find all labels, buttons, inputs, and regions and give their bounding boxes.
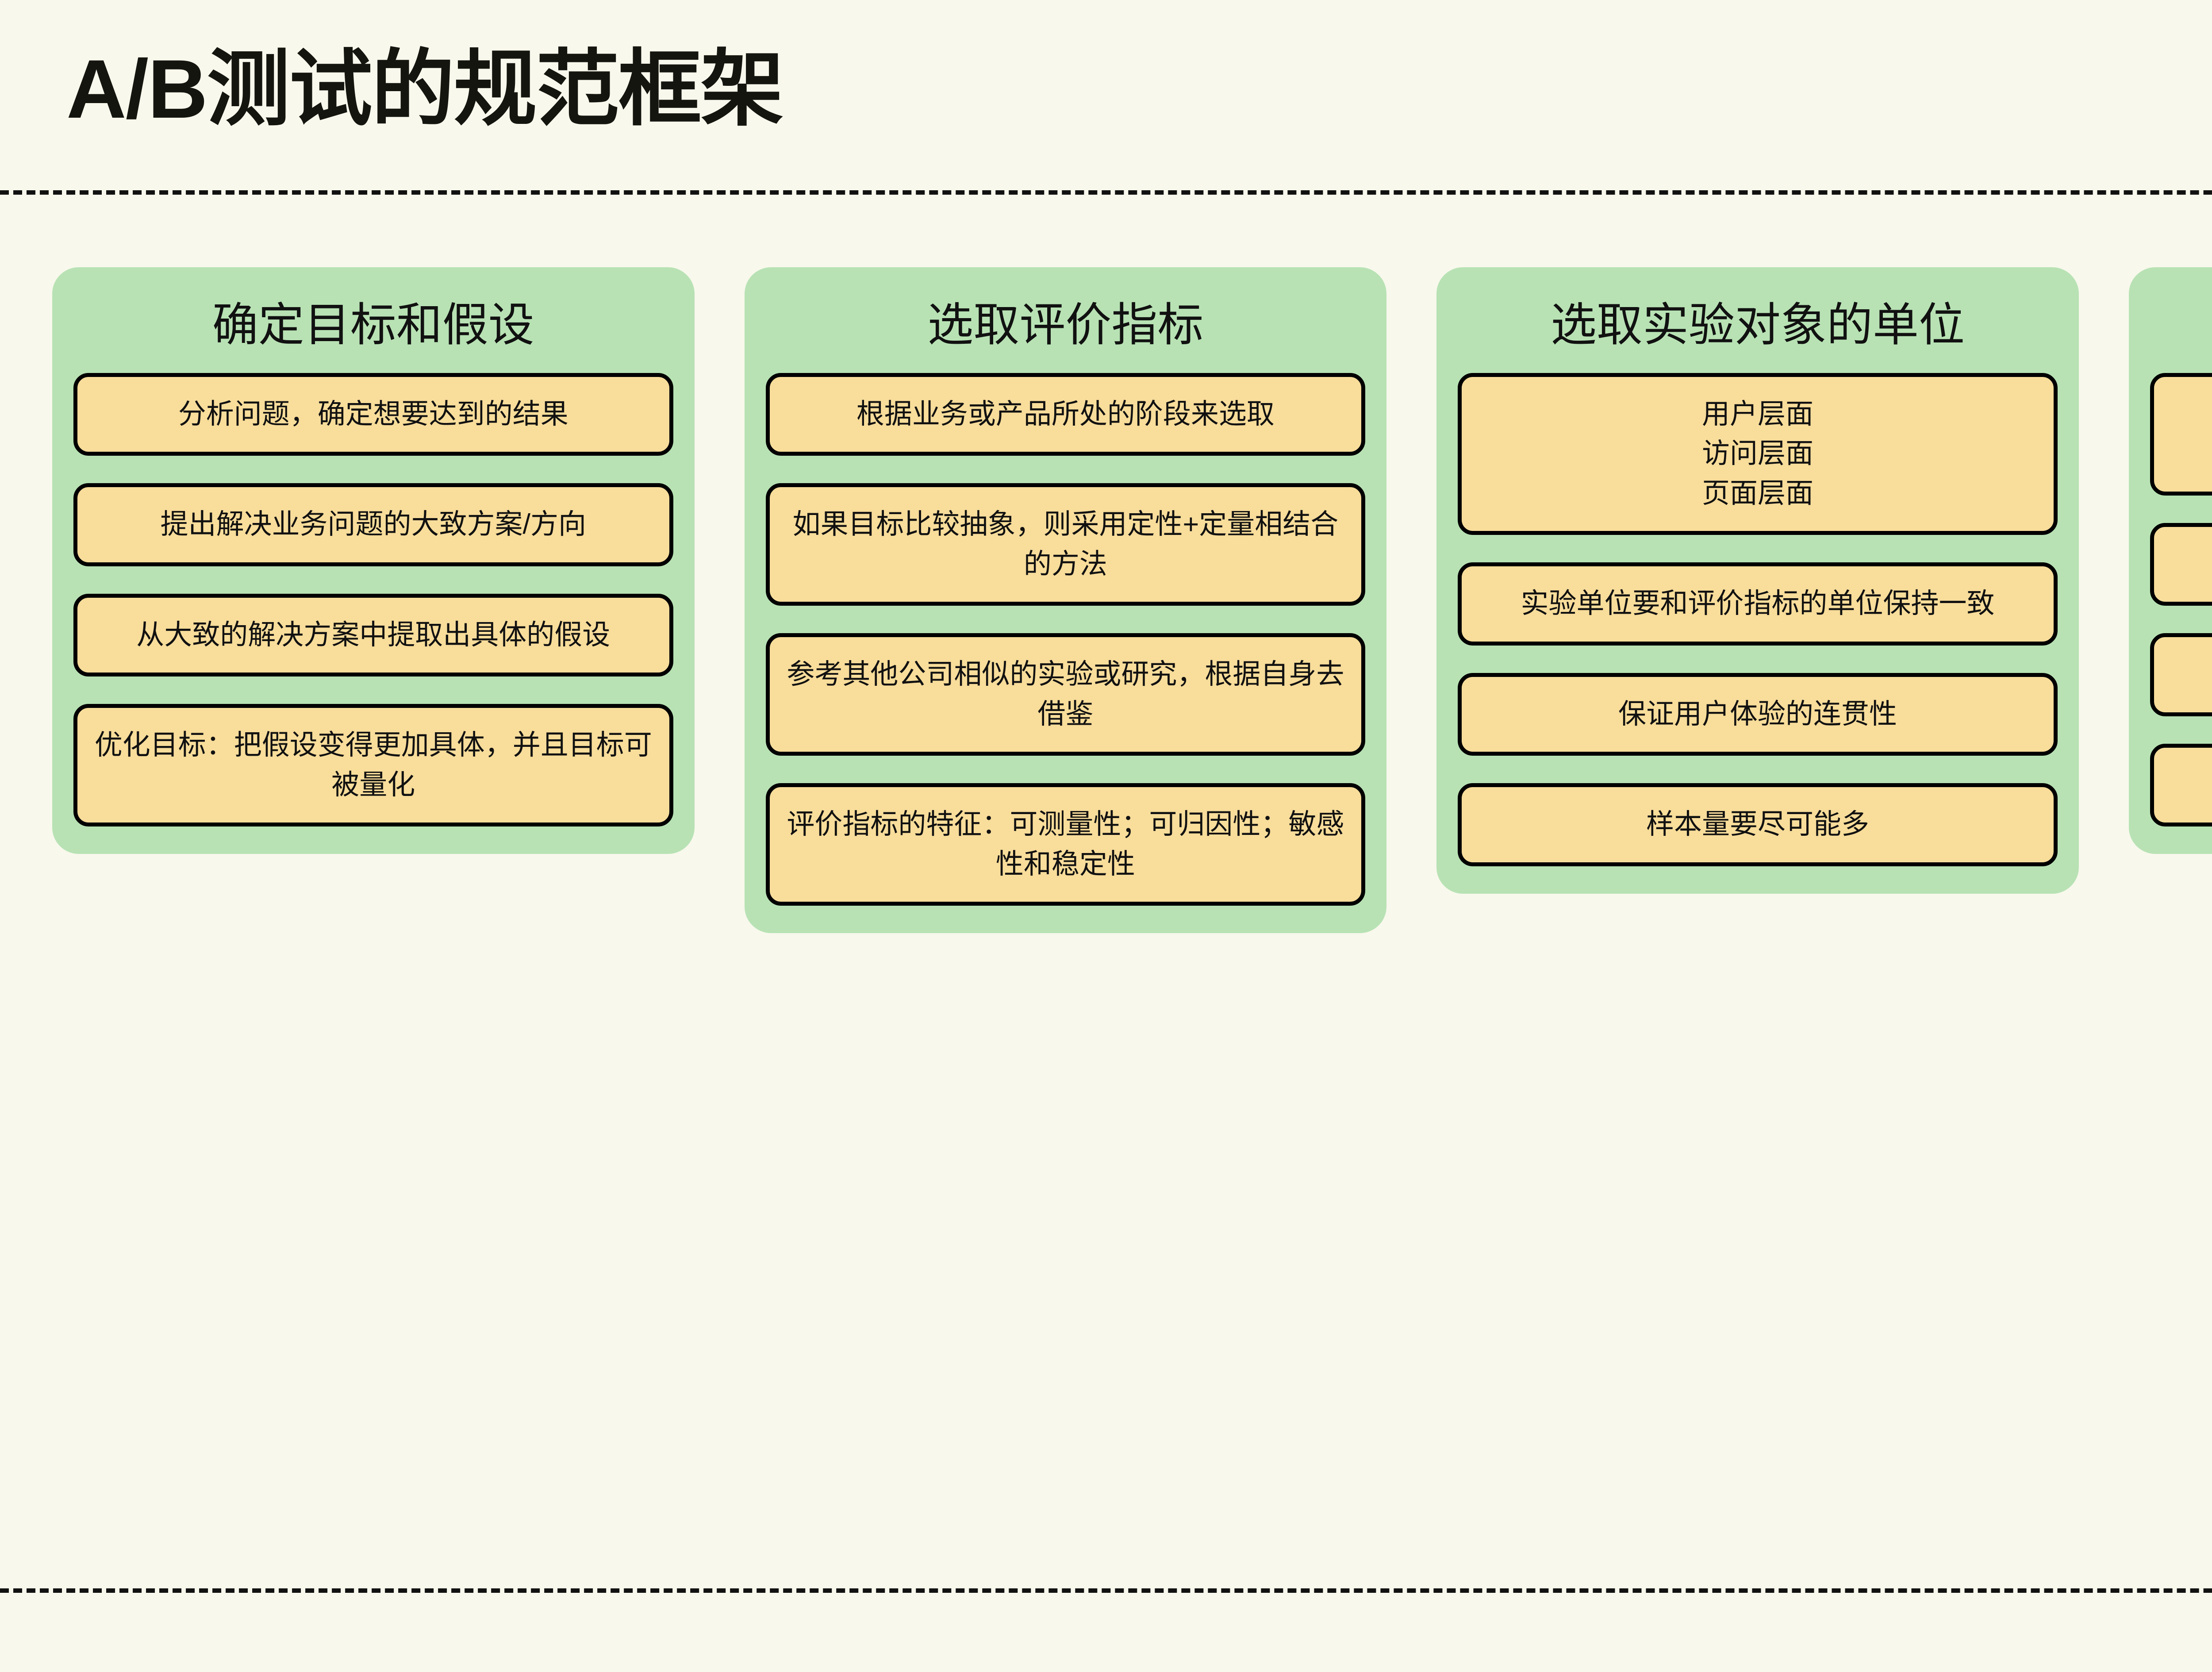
card-item: 样本量要尽可能多 <box>1458 783 2058 866</box>
framework-columns: 确定目标和假设 分析问题，确定想要达到的结果 提出解决业务问题的大致方案/方向 … <box>52 267 2212 933</box>
column-title: 选取评价指标 <box>766 297 1366 354</box>
card-item: 从大致的解决方案中提取出具体的假设 <box>73 594 673 676</box>
column-cards: 计算试验所需时间： 总样本量 / 每天可以得到的样本量 两组样本量应保持相等 估… <box>2150 373 2212 826</box>
column-select-metrics: 选取评价指标 根据业务或产品所处的阶段来选取 如果目标比较抽象，则采用定性+定量… <box>745 267 1387 933</box>
page-title: A/B测试的规范框架 <box>66 42 783 136</box>
card-item: 如果目标比较抽象，则采用定性+定量相结合的方法 <box>766 483 1366 606</box>
column-cards: 根据业务或产品所处的阶段来选取 如果目标比较抽象，则采用定性+定量相结合的方法 … <box>766 373 1366 906</box>
card-item: 保证用户体验的连贯性 <box>1458 673 2058 756</box>
divider-bottom <box>0 1588 2212 1593</box>
card-item: 评价指标的特征：可测量性；可归因性；敏感性和稳定性 <box>766 783 1366 906</box>
card-item: 计算试验所需时间： 总样本量 / 每天可以得到的样本量 <box>2150 373 2212 496</box>
card-item: 根据业务或产品所处的阶段来选取 <box>766 373 1366 456</box>
card-item: 分析问题，确定想要达到的结果 <box>73 373 673 456</box>
column-select-unit: 选取实验对象的单位 用户层面 访问层面 页面层面 实验单位要和评价指标的单位保持… <box>1436 267 2079 894</box>
column-title: 选取实验对象的单位 <box>1458 297 2058 354</box>
card-item: 优化目标：把假设变得更加具体，并且目标可被量化 <box>73 704 673 826</box>
column-title: 选取实验样本量 <box>2150 297 2212 354</box>
card-item: 用户层面 访问层面 页面层面 <box>1458 373 2058 535</box>
card-item: 两组样本量应保持相等 <box>2150 523 2212 606</box>
card-item: 估算两组评价指标的差值δ <box>2150 633 2212 716</box>
card-item: 参考其他公司相似的实验或研究，根据自身去借鉴 <box>766 633 1366 756</box>
card-item: 实验单位要和评价指标的单位保持一致 <box>1458 562 2058 645</box>
card-item: 计算两组的综合方差 <box>2150 744 2212 826</box>
column-cards: 分析问题，确定想要达到的结果 提出解决业务问题的大致方案/方向 从大致的解决方案… <box>73 373 673 826</box>
card-item: 提出解决业务问题的大致方案/方向 <box>73 483 673 566</box>
divider-top <box>0 190 2212 195</box>
column-cards: 用户层面 访问层面 页面层面 实验单位要和评价指标的单位保持一致 保证用户体验的… <box>1458 373 2058 866</box>
column-define-goal: 确定目标和假设 分析问题，确定想要达到的结果 提出解决业务问题的大致方案/方向 … <box>52 267 695 854</box>
column-sample-size: 选取实验样本量 计算试验所需时间： 总样本量 / 每天可以得到的样本量 两组样本… <box>2129 267 2212 854</box>
column-title: 确定目标和假设 <box>73 297 673 354</box>
